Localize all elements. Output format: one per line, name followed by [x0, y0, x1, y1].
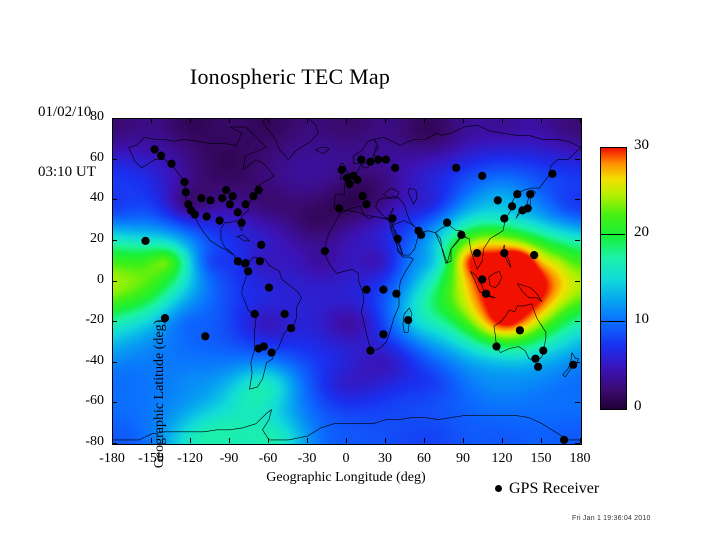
colorbar — [600, 147, 627, 410]
y-tick-label: 60 — [60, 150, 104, 166]
gps-receiver-dot — [255, 186, 263, 194]
gps-receiver-dot — [151, 145, 159, 153]
gps-receiver-dot — [382, 156, 390, 164]
tec-map-figure: 01/02/10 03:10 UT Ionospheric TEC Map -1… — [0, 0, 720, 540]
x-tick — [190, 438, 191, 443]
x-tick — [580, 438, 581, 443]
gps-receiver-dot — [201, 332, 209, 340]
gps-receiver-dot — [366, 347, 374, 355]
gps-receiver-dot — [508, 202, 516, 210]
gps-receiver-dot — [281, 310, 289, 318]
x-tick-top — [151, 118, 152, 123]
legend: GPS Receiver — [495, 480, 599, 498]
gps-receiver-markers — [113, 119, 581, 444]
y-axis-title: Geographic Latitude (deg) — [152, 294, 168, 494]
x-tick — [541, 438, 542, 443]
y-tick-right — [575, 159, 580, 160]
gps-receiver-dot — [335, 204, 343, 212]
gps-receiver-dot — [366, 158, 374, 166]
x-tick — [502, 438, 503, 443]
gps-receiver-dot — [357, 156, 365, 164]
gps-receiver-dot — [287, 324, 295, 332]
gps-receiver-dot — [182, 188, 190, 196]
y-tick — [112, 281, 117, 282]
y-tick-right — [575, 118, 580, 119]
y-tick — [112, 362, 117, 363]
gps-receiver-dot — [268, 349, 276, 357]
gps-receiver-dot — [197, 194, 205, 202]
y-tick — [112, 199, 117, 200]
gps-receiver-dot — [513, 190, 521, 198]
y-tick — [112, 443, 117, 444]
gps-receiver-dot — [392, 290, 400, 298]
x-tick — [385, 438, 386, 443]
gps-receiver-dot — [388, 214, 396, 222]
gps-receiver-dot — [379, 330, 387, 338]
gps-receiver-dot — [457, 231, 465, 239]
x-tick — [268, 438, 269, 443]
colorbar-tick-label: 30 — [634, 137, 649, 154]
gps-receiver-dot — [238, 219, 246, 227]
gps-receiver-dot — [251, 310, 259, 318]
gps-receiver-dot — [524, 204, 532, 212]
y-tick-label: -40 — [60, 353, 104, 369]
x-tick-top — [307, 118, 308, 123]
x-tick-top — [229, 118, 230, 123]
gps-receiver-dot — [203, 212, 211, 220]
gps-receiver-dot — [191, 210, 199, 218]
gps-receiver-dot — [452, 164, 460, 172]
y-tick — [112, 402, 117, 403]
gps-receiver-dot — [374, 156, 382, 164]
gps-receiver-dot — [206, 196, 214, 204]
x-tick-top — [190, 118, 191, 123]
gps-receiver-dot — [180, 178, 188, 186]
gps-receiver-dot — [500, 249, 508, 257]
y-tick-right — [575, 199, 580, 200]
gps-receiver-dot — [516, 326, 524, 334]
x-tick-top — [346, 118, 347, 123]
gps-receiver-dot — [404, 316, 412, 324]
gps-receiver-dot — [141, 237, 149, 245]
y-tick-right — [575, 321, 580, 322]
gps-receiver-dot — [473, 249, 481, 257]
gps-receiver-dot — [534, 363, 542, 371]
y-tick — [112, 321, 117, 322]
y-tick-right — [575, 281, 580, 282]
gps-receiver-dot — [478, 275, 486, 283]
y-tick — [112, 159, 117, 160]
y-tick — [112, 118, 117, 119]
y-tick-label: 40 — [60, 190, 104, 206]
gps-receiver-dot — [157, 152, 165, 160]
gps-receiver-dot — [530, 251, 538, 259]
gps-receiver-dot — [362, 200, 370, 208]
y-tick-label: -20 — [60, 312, 104, 328]
y-tick-right — [575, 443, 580, 444]
y-tick-label: 20 — [60, 231, 104, 247]
y-tick-label: -60 — [60, 393, 104, 409]
y-tick-right — [575, 402, 580, 403]
gps-receiver-dot — [257, 241, 265, 249]
generation-timestamp: Fri Jan 1 19:36:04 2010 — [572, 515, 651, 522]
x-tick-top — [541, 118, 542, 123]
gps-receiver-dot — [343, 174, 351, 182]
colorbar-tick — [600, 234, 625, 235]
gps-receiver-dot — [539, 347, 547, 355]
gps-receiver-dot — [531, 355, 539, 363]
gps-receiver-dot — [500, 214, 508, 222]
gps-receiver-dot — [226, 200, 234, 208]
y-tick-label: 0 — [60, 272, 104, 288]
colorbar-gradient — [601, 148, 626, 409]
x-tick-label: 180 — [550, 451, 610, 467]
x-tick-top — [463, 118, 464, 123]
x-tick — [346, 438, 347, 443]
x-tick — [229, 438, 230, 443]
gps-receiver-dot — [482, 290, 490, 298]
gps-receiver-dot — [234, 208, 242, 216]
gps-receiver-dot — [526, 190, 534, 198]
gps-receiver-dot — [256, 257, 264, 265]
gps-receiver-dot — [242, 259, 250, 267]
gps-receiver-dot — [494, 196, 502, 204]
gps-receiver-dot — [167, 160, 175, 168]
figure-title: Ionospheric TEC Map — [0, 64, 580, 90]
x-tick — [307, 438, 308, 443]
gps-receiver-dot — [218, 194, 226, 202]
gps-receiver-dot — [338, 166, 346, 174]
x-tick-top — [268, 118, 269, 123]
gps-receiver-dot — [379, 286, 387, 294]
gps-receiver-dot — [492, 342, 500, 350]
gps-receiver-dot — [265, 284, 273, 292]
y-tick-right — [575, 240, 580, 241]
x-tick-top — [424, 118, 425, 123]
colorbar-tick-label: 20 — [634, 224, 649, 241]
y-tick-label: 80 — [60, 109, 104, 125]
colorbar-tick — [600, 321, 625, 322]
x-tick-top — [580, 118, 581, 123]
y-tick-right — [575, 362, 580, 363]
x-tick — [424, 438, 425, 443]
gps-receiver-dot-icon — [495, 485, 502, 492]
legend-label: GPS Receiver — [509, 480, 599, 497]
gps-receiver-dot — [359, 192, 367, 200]
colorbar-tick-label: 0 — [634, 398, 642, 415]
gps-receiver-dot — [353, 176, 361, 184]
y-tick — [112, 240, 117, 241]
gps-receiver-dot — [478, 172, 486, 180]
gps-receiver-dot — [229, 192, 237, 200]
gps-receiver-dot — [391, 164, 399, 172]
x-tick — [463, 438, 464, 443]
x-tick-top — [502, 118, 503, 123]
colorbar-tick-label: 10 — [634, 311, 649, 328]
gps-receiver-dot — [560, 436, 568, 444]
gps-receiver-dot — [443, 219, 451, 227]
gps-receiver-dot — [234, 257, 242, 265]
gps-receiver-dot — [244, 267, 252, 275]
gps-receiver-dot — [222, 186, 230, 194]
y-tick-label: -80 — [60, 434, 104, 450]
gps-receiver-dot — [362, 286, 370, 294]
gps-receiver-dot — [216, 217, 224, 225]
gps-receiver-dot — [321, 247, 329, 255]
gps-receiver-dot — [260, 342, 268, 350]
gps-receiver-dot — [394, 235, 402, 243]
x-tick-top — [385, 118, 386, 123]
gps-receiver-dot — [242, 200, 250, 208]
map-plot-area — [112, 118, 582, 445]
gps-receiver-dot — [417, 231, 425, 239]
gps-receiver-dot — [548, 170, 556, 178]
